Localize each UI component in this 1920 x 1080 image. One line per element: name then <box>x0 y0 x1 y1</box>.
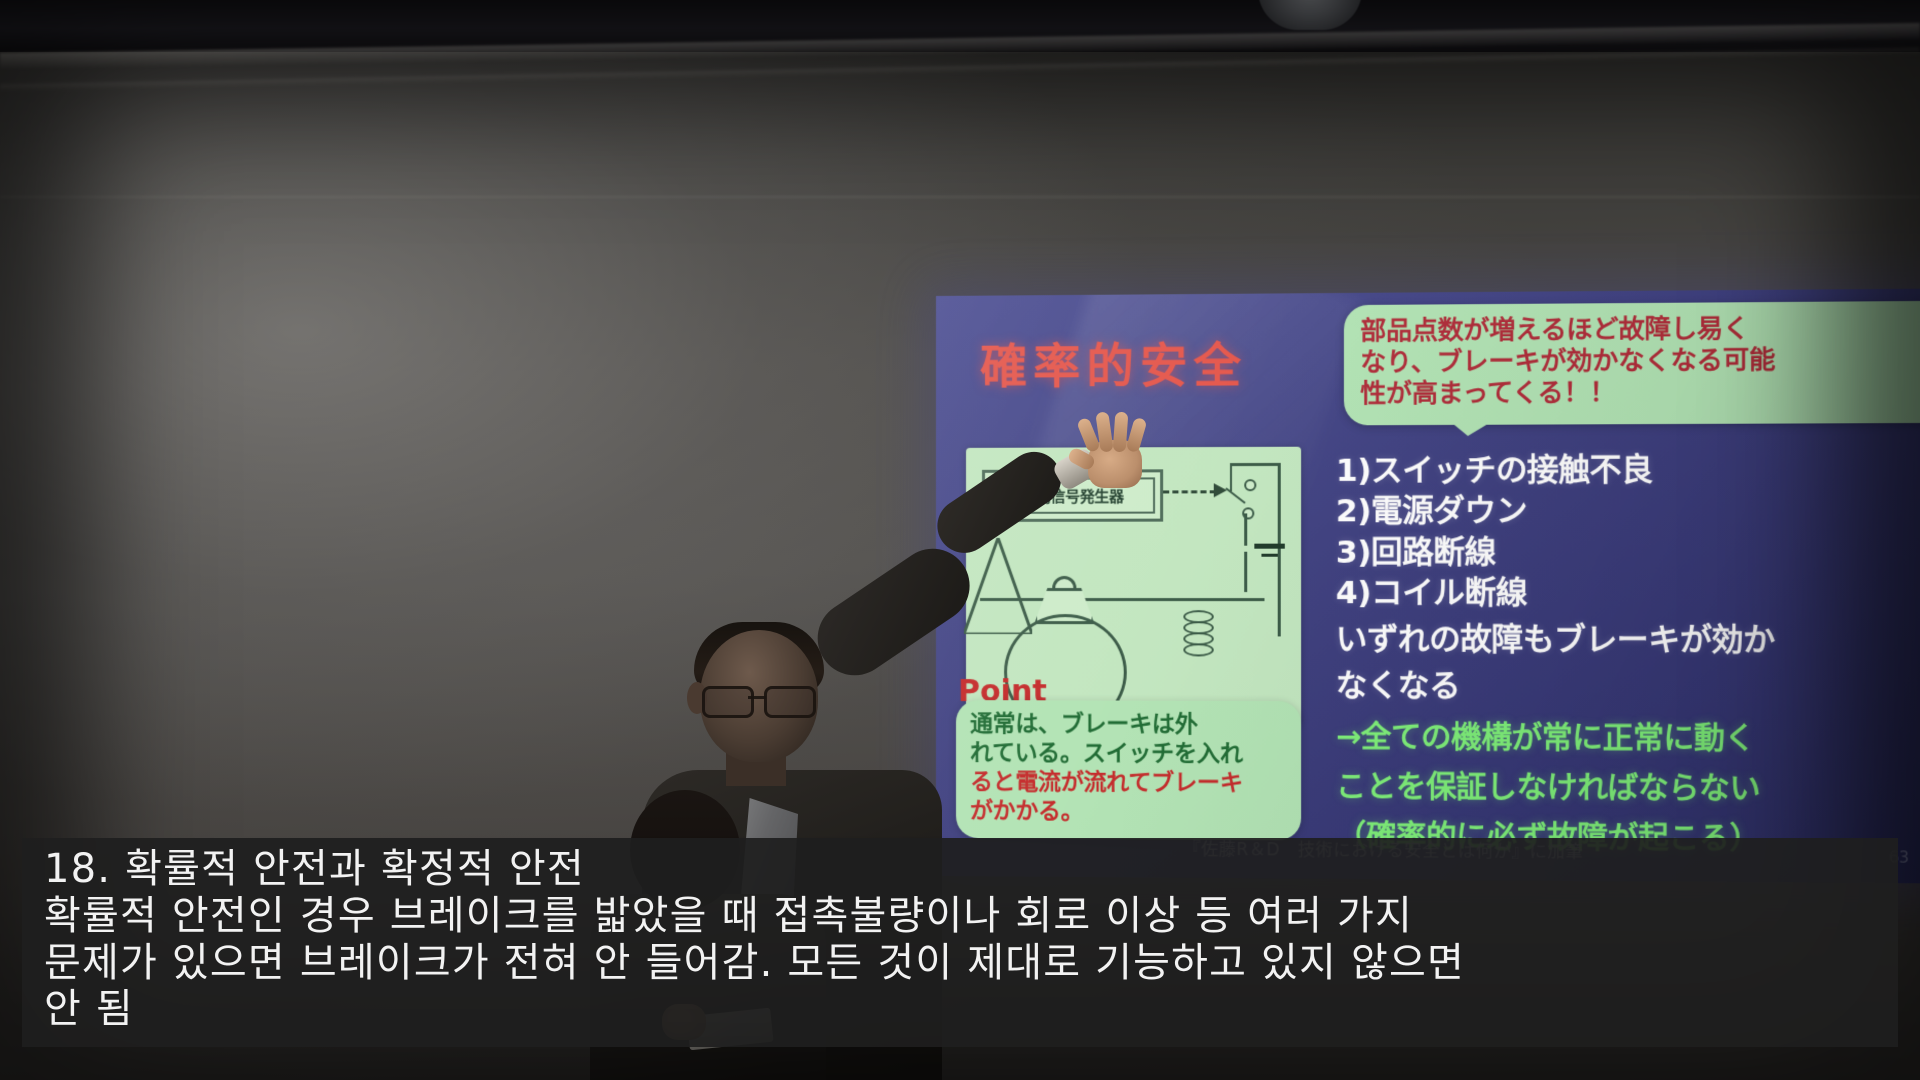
brake-pad-icon <box>1026 576 1096 618</box>
projected-slide: 確率的安全 部品点数が増えるほど故障し易く なり、ブレーキが効かなくなる可能 性… <box>936 289 1920 884</box>
switch-terminal-top <box>1244 479 1256 491</box>
battery-wire-top <box>1244 513 1247 545</box>
presenter-glasses-icon <box>702 686 818 712</box>
slide-callout: 部品点数が増えるほど故障し易く なり、ブレーキが効かなくなる可能 性が高まってく… <box>1344 301 1920 426</box>
callout-line-2: なり、ブレーキが効かなくなる可能 <box>1360 344 1920 379</box>
bullet-item-3: 3)回路断線 <box>1336 531 1915 573</box>
lower-lead-wire <box>1074 598 1264 601</box>
bullet-item-1: 1)スイッチの接触不良 <box>1336 449 1915 492</box>
glasses-lens-right <box>764 686 816 718</box>
finger-4 <box>1126 417 1148 453</box>
note-line-2: なくなる <box>1336 666 1915 708</box>
slide-bullet-list: 1)スイッチの接触不良 2)電源ダウン 3)回路断線 4)コイル断線 いずれの故… <box>1336 449 1915 860</box>
top-wire <box>1230 463 1281 466</box>
wall-seam <box>0 196 1920 198</box>
callout-line-1: 部品点数が増えるほど故障し易く <box>1360 312 1920 347</box>
lower-callout-line-4: がかかる。 <box>970 797 1289 828</box>
conclusion-line-2: ことを保証しなければならない <box>1336 767 1915 810</box>
bullet-item-2: 2)電源ダウン <box>1336 490 1915 532</box>
glasses-lens-left <box>702 686 754 718</box>
battery-plate-small <box>1261 554 1277 557</box>
subtitle-line-2: 확률적 안전인 경우 브레이크를 밟았을 때 접촉불량이나 회로 이상 등 여러… <box>44 893 1878 940</box>
subtitle-line-1: 18. 확률적 안전과 확정적 안전 <box>44 846 1878 893</box>
bullet-item-4: 4)コイル断線 <box>1336 573 1915 614</box>
battery-wire-bottom <box>1244 552 1247 592</box>
presenter-hand <box>1078 416 1154 490</box>
slide-title: 確率的安全 <box>980 326 1247 397</box>
subtitle-line-3: 문제가 있으면 브레이크가 전혀 안 들어감. 모든 것이 제대로 기능하고 있… <box>44 940 1878 987</box>
video-frame: 確率的安全 部品点数が増えるほど故障し易く なり、ブレーキが効かなくなる可能 性… <box>0 0 1920 1080</box>
subtitle-overlay: 18. 확률적 안전과 확정적 안전 확률적 안전인 경우 브레이크를 밟았을 … <box>22 838 1898 1047</box>
callout-line-3: 性が高まってくる！！ <box>1360 376 1920 410</box>
arrow-icon <box>1214 483 1227 497</box>
conclusion-line-1: →全ての機構が常に正常に動く <box>1336 717 1915 759</box>
presenter-upper-arm <box>803 534 984 689</box>
coil-icon <box>1183 610 1209 656</box>
battery-plate-large <box>1254 544 1284 549</box>
note-line-1: いずれの故障もブレーキが効か <box>1336 620 1915 662</box>
dashed-signal-line <box>1163 490 1216 493</box>
lower-callout-line-3: ると電流が流れてブレーキ <box>970 768 1289 799</box>
switch-arm-icon <box>1225 487 1245 503</box>
switch-stem <box>1230 465 1232 491</box>
right-wire <box>1278 463 1281 637</box>
subtitle-line-4: 안 됨 <box>44 986 1878 1033</box>
presenter-pointing-arm <box>824 502 1020 752</box>
